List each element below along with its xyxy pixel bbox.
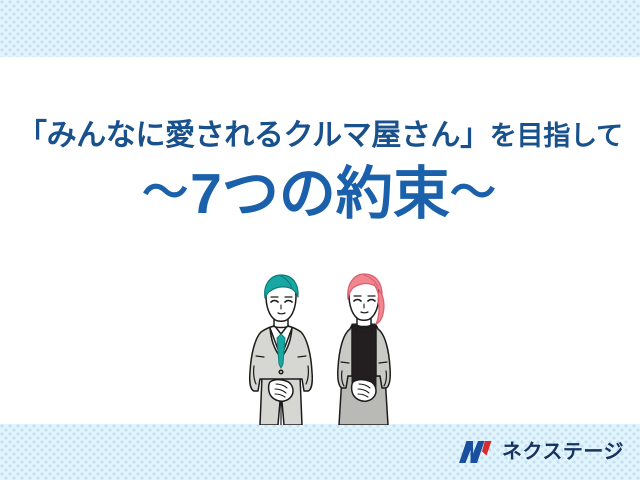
headline-secondary-core: 7つの約束 bbox=[190, 162, 450, 226]
headline-tilde-right: ～ bbox=[450, 166, 498, 218]
nextage-n-logo-icon bbox=[456, 439, 494, 465]
nextage-logo: ネクステージ bbox=[456, 437, 624, 467]
headline-block: 「みんなに愛されるクルマ屋さん」を目指して ～7つの約束～ bbox=[0, 118, 640, 225]
headline-primary-tail: を目指して bbox=[490, 121, 623, 151]
promo-banner: 「みんなに愛されるクルマ屋さん」を目指して ～7つの約束～ bbox=[0, 0, 640, 480]
headline-tilde-left: ～ bbox=[142, 166, 190, 218]
nextage-wordmark: ネクステージ bbox=[502, 442, 624, 462]
headline-primary: 「みんなに愛されるクルマ屋さん」を目指して bbox=[0, 118, 640, 153]
headline-secondary: ～7つの約束～ bbox=[0, 165, 640, 225]
two-bowing-staff-illustration bbox=[240, 272, 420, 425]
headline-primary-quoted: 「みんなに愛されるクルマ屋さん」 bbox=[17, 119, 490, 152]
